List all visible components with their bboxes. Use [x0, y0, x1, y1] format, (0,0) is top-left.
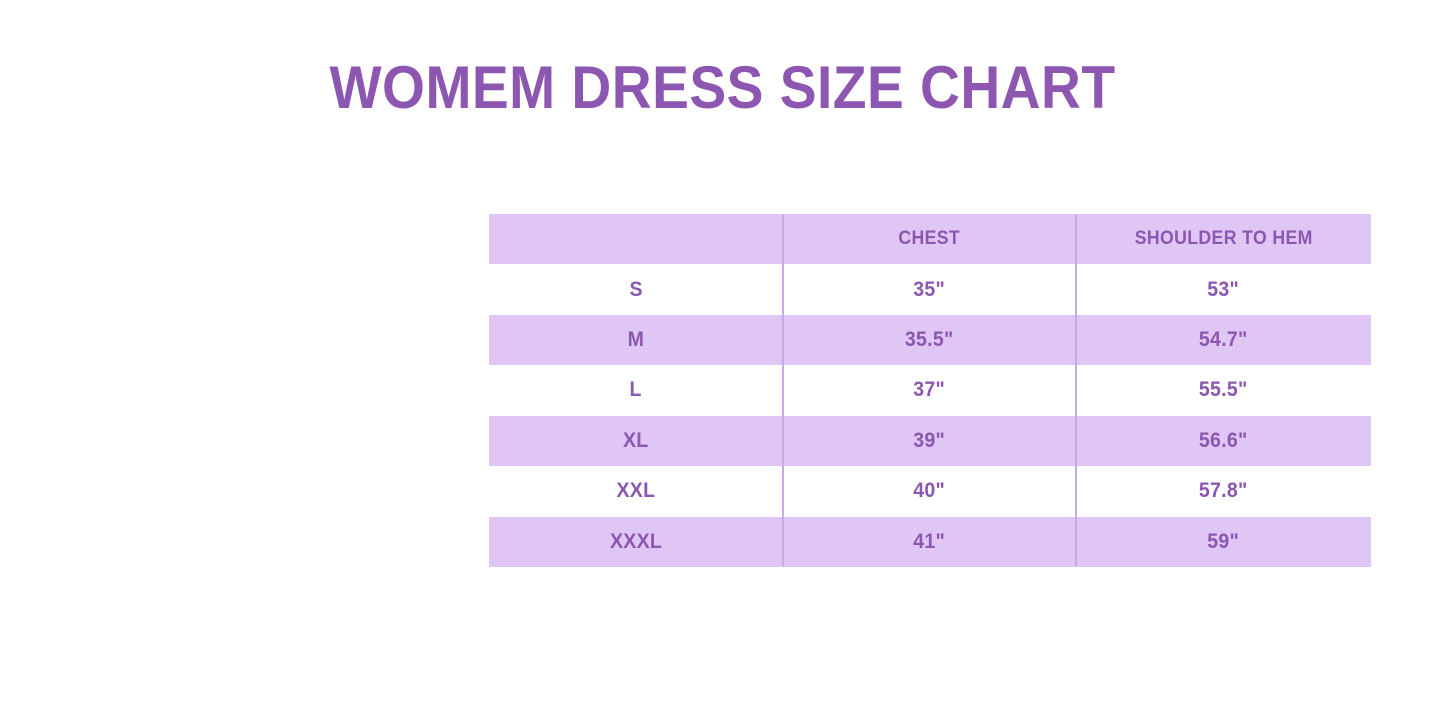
- chest-value: 35": [914, 278, 946, 302]
- size-label: XXL: [617, 479, 656, 503]
- size-chart-page: WOMEM DRESS SIZE CHART CHEST SHOULDER TO: [0, 0, 1445, 723]
- table-cell-size: XL: [489, 416, 783, 466]
- size-label: M: [628, 328, 645, 352]
- table-cell-shoulder-to-hem: 53": [1076, 264, 1371, 314]
- table-header-row: CHEST SHOULDER TO HEM: [489, 214, 1371, 264]
- shoulder-to-hem-value: 57.8": [1199, 479, 1248, 503]
- table-row: M 35.5" 54.7": [489, 315, 1371, 365]
- table-cell-size: XXL: [489, 466, 783, 516]
- table-row: S 35" 53": [489, 264, 1371, 314]
- table-row: XXXL 41" 59": [489, 517, 1371, 568]
- table-cell-chest: 35": [783, 264, 1076, 314]
- size-label: XL: [623, 429, 649, 453]
- table-cell-shoulder-to-hem: 59": [1076, 517, 1371, 568]
- page-title: WOMEM DRESS SIZE CHART: [58, 56, 1387, 119]
- table-header-label-shoulder-to-hem: SHOULDER TO HEM: [1134, 228, 1312, 250]
- table-cell-chest: 37": [783, 365, 1076, 415]
- shoulder-to-hem-value: 53": [1208, 278, 1240, 302]
- table-cell-size: L: [489, 365, 783, 415]
- table-cell-chest: 39": [783, 416, 1076, 466]
- table-header-cell-size: [489, 214, 783, 264]
- table-row: XXL 40" 57.8": [489, 466, 1371, 516]
- table-header-cell-shoulder-to-hem: SHOULDER TO HEM: [1076, 214, 1371, 264]
- shoulder-to-hem-value: 55.5": [1199, 378, 1248, 402]
- chest-value: 37": [914, 378, 946, 402]
- table-cell-size: S: [489, 264, 783, 314]
- table-cell-size: M: [489, 315, 783, 365]
- chest-value: 35.5": [905, 328, 954, 352]
- shoulder-to-hem-value: 56.6": [1199, 429, 1248, 453]
- size-chart-table: CHEST SHOULDER TO HEM S 35" 53": [489, 214, 1371, 567]
- size-chart-table-container: CHEST SHOULDER TO HEM S 35" 53": [489, 214, 1371, 567]
- chest-value: 40": [914, 479, 946, 503]
- table-cell-shoulder-to-hem: 56.6": [1076, 416, 1371, 466]
- size-label: XXXL: [610, 530, 662, 554]
- table-header-label-chest: CHEST: [899, 228, 961, 250]
- size-label: S: [629, 278, 642, 302]
- table-cell-chest: 41": [783, 517, 1076, 568]
- table-cell-shoulder-to-hem: 55.5": [1076, 365, 1371, 415]
- table-cell-size: XXXL: [489, 517, 783, 568]
- table-cell-chest: 35.5": [783, 315, 1076, 365]
- table-cell-shoulder-to-hem: 54.7": [1076, 315, 1371, 365]
- shoulder-to-hem-value: 54.7": [1199, 328, 1248, 352]
- chest-value: 41": [914, 530, 946, 554]
- size-label: L: [630, 378, 642, 402]
- chest-value: 39": [914, 429, 946, 453]
- table-cell-shoulder-to-hem: 57.8": [1076, 466, 1371, 516]
- table-row: L 37" 55.5": [489, 365, 1371, 415]
- table-header-cell-chest: CHEST: [783, 214, 1076, 264]
- table-row: XL 39" 56.6": [489, 416, 1371, 466]
- table-cell-chest: 40": [783, 466, 1076, 516]
- shoulder-to-hem-value: 59": [1208, 530, 1240, 554]
